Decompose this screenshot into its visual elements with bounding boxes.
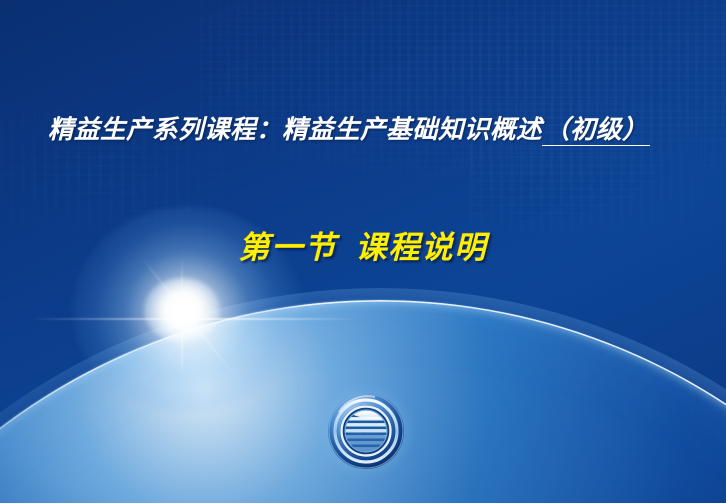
slide-subtitle: 第一节课程说明 [0,222,726,267]
slide-subtitle-name: 课程说明 [356,230,488,265]
slide-title-level: （初级） [542,115,650,146]
slide-title: 精益生产系列课程：精益生产基础知识概述（初级） [48,114,688,146]
slide-subtitle-section: 第一节 [239,230,338,265]
company-emblem-icon [327,392,405,470]
presentation-slide: 精益生产系列课程：精益生产基础知识概述（初级） 第一节课程说明 [0,0,726,503]
company-logo [327,392,405,470]
slide-title-main: 精益生产系列课程：精益生产基础知识概述 [48,115,542,144]
